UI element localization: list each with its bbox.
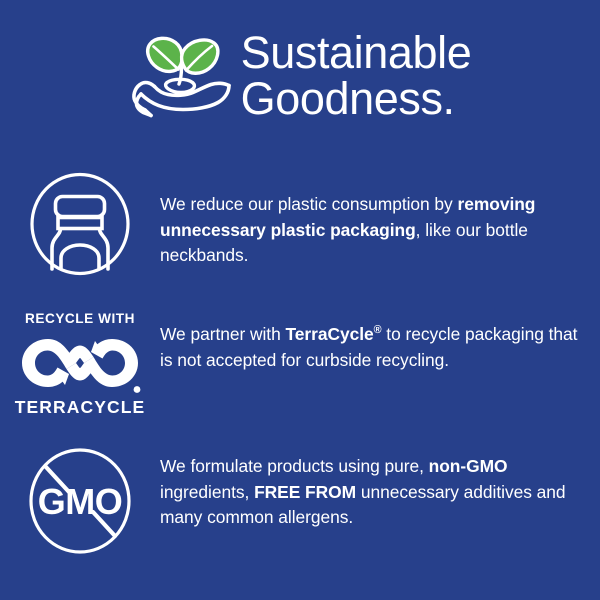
registered-trademark-mark: ® bbox=[374, 324, 382, 336]
page-title: Sustainable Goodness. bbox=[241, 30, 472, 122]
section-plastic-reduction: We reduce our plastic consumption by rem… bbox=[0, 172, 600, 281]
text-run-bold: TerraCycle bbox=[286, 324, 374, 344]
hand-holding-plant-icon bbox=[129, 26, 233, 126]
terracycle-top-label: RECYCLE WITH bbox=[25, 312, 135, 326]
section-terracycle: RECYCLE WITH bbox=[0, 312, 600, 416]
section-icon-wrapper bbox=[0, 172, 160, 281]
sustainable-goodness-panel: Sustainable Goodness. We re bbox=[0, 0, 600, 600]
terracycle-logo: RECYCLE WITH bbox=[12, 312, 148, 416]
section-non-gmo: GMO We formulate products using pure, no… bbox=[0, 446, 600, 561]
text-run: ingredients, bbox=[160, 482, 254, 502]
gmo-label: GMO bbox=[38, 481, 123, 522]
section-text-non-gmo: We formulate products using pure, non-GM… bbox=[160, 446, 600, 531]
text-run: We reduce our plastic consumption by bbox=[160, 194, 458, 214]
section-text-plastic-reduction: We reduce our plastic consumption by rem… bbox=[160, 172, 600, 269]
text-run-bold: non-GMO bbox=[429, 456, 508, 476]
header: Sustainable Goodness. bbox=[0, 26, 600, 126]
section-text-terracycle: We partner with TerraCycle® to recycle p… bbox=[160, 312, 600, 373]
text-run-bold: FREE FROM bbox=[254, 482, 356, 502]
section-icon-wrapper: RECYCLE WITH bbox=[0, 312, 160, 416]
bottle-neckband-circle-icon bbox=[28, 172, 132, 281]
text-run: We formulate products using pure, bbox=[160, 456, 429, 476]
no-gmo-circle-icon: GMO bbox=[25, 446, 135, 561]
mobius-infinity-recycle-icon bbox=[13, 330, 147, 396]
section-icon-wrapper: GMO bbox=[0, 446, 160, 561]
text-run: We partner with bbox=[160, 324, 286, 344]
terracycle-bottom-label: TERRACYCLE bbox=[15, 399, 146, 417]
